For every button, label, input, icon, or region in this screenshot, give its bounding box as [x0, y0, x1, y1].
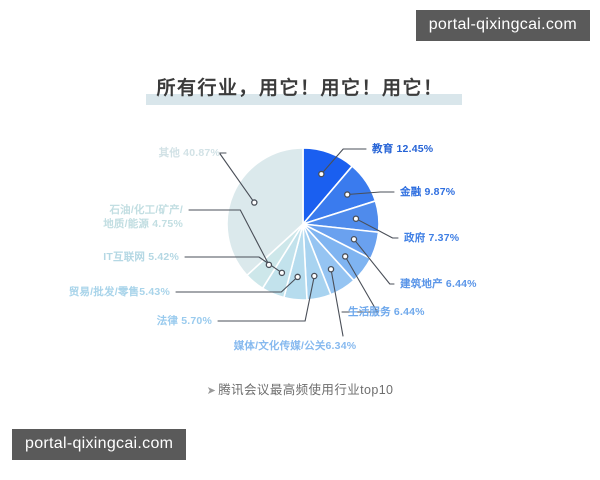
pie-slice-label-line: 教育 12.45%: [372, 143, 433, 157]
pie-slice-label-line: 其他 40.87%: [0, 147, 220, 161]
pie-slice-group: [227, 148, 379, 300]
pie-slice-label: 贸易/批发/零售5.43%: [0, 286, 170, 300]
pie-slice-label-line: IT互联网 5.42%: [0, 251, 179, 265]
pie-connector-dot: [328, 267, 333, 272]
pie-slice-label-line: 生活服务 6.44%: [348, 306, 425, 320]
pie-chart: 教育 12.45%金融 9.87%政府 7.37%建筑地产 6.44%生活服务 …: [0, 0, 600, 480]
pie-slice-label: 生活服务 6.44%: [348, 306, 425, 320]
pie-connector-dot: [295, 274, 300, 279]
pie-slice-label-line: 贸易/批发/零售5.43%: [0, 286, 170, 300]
page-title-text: 所有行业，用它！用它！用它！: [156, 78, 443, 99]
pie-slice-label: 媒体/文化传媒/公关6.34%: [195, 340, 395, 354]
pie-connector-dot: [252, 200, 257, 205]
pie-slice-label: 教育 12.45%: [372, 143, 433, 157]
pie-connector-dot: [343, 254, 348, 259]
pie-slice-label: 政府 7.37%: [404, 232, 459, 246]
pie-connector-dot: [345, 192, 350, 197]
pie-slice-label-line: 政府 7.37%: [404, 232, 459, 246]
chart-caption: ➤腾讯会议最高频使用行业top10: [0, 379, 600, 398]
caption-arrow-icon: ➤: [207, 385, 217, 397]
pie-connector-dot: [312, 273, 317, 278]
pie-chart-svg: [0, 0, 600, 480]
pie-connector-dot: [353, 216, 358, 221]
pie-slice-label: 石油/化工/矿产/地质/能源 4.75%: [0, 204, 183, 231]
pie-slice-label-line: 地质/能源 4.75%: [0, 218, 183, 232]
pie-connector-dot: [266, 262, 271, 267]
pie-slice-label: IT互联网 5.42%: [0, 251, 179, 265]
pie-connector-dot: [279, 270, 284, 275]
pie-slice-label-line: 金融 9.87%: [400, 186, 455, 200]
pie-slice-label: 法律 5.70%: [0, 315, 212, 329]
pie-slice-label: 其他 40.87%: [0, 147, 220, 161]
pie-slice-label-line: 法律 5.70%: [0, 315, 212, 329]
caption-text: 腾讯会议最高频使用行业top10: [218, 383, 393, 397]
pie-slice-label-line: 建筑地产 6.44%: [400, 278, 477, 292]
pie-connector-dot: [319, 171, 324, 176]
pie-slice-label: 金融 9.87%: [400, 186, 455, 200]
pie-connector-dot: [351, 237, 356, 242]
pie-slice-label-line: 媒体/文化传媒/公关6.34%: [195, 340, 395, 354]
pie-slice-label: 建筑地产 6.44%: [400, 278, 477, 292]
pie-slice-label-line: 石油/化工/矿产/: [0, 204, 183, 218]
